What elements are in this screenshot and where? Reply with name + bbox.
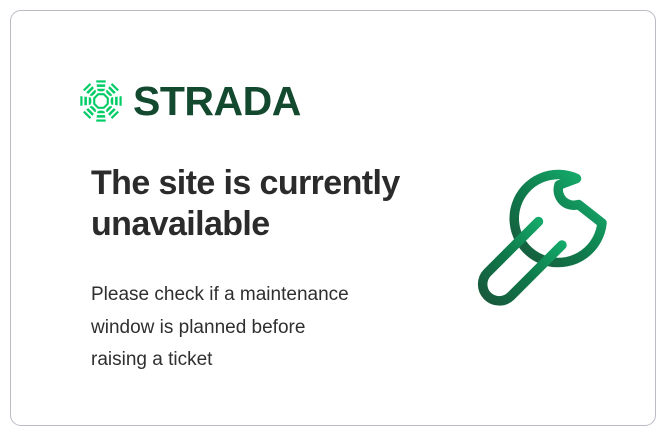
- message-line: raising a ticket: [91, 344, 401, 377]
- strada-asterisk-icon: [79, 79, 123, 123]
- maintenance-message: Please check if a maintenance window is …: [91, 279, 401, 377]
- brand-wordmark: STRADA: [133, 81, 301, 122]
- wrench-icon: [466, 161, 626, 321]
- message-line: Please check if a maintenance: [91, 279, 401, 312]
- message-line: window is planned before: [91, 312, 401, 345]
- brand-logo: STRADA: [79, 79, 301, 123]
- maintenance-card: STRADA The site is currently unavailable…: [10, 10, 656, 426]
- page-title: The site is currently unavailable: [91, 163, 431, 246]
- error-page: STRADA The site is currently unavailable…: [0, 0, 666, 436]
